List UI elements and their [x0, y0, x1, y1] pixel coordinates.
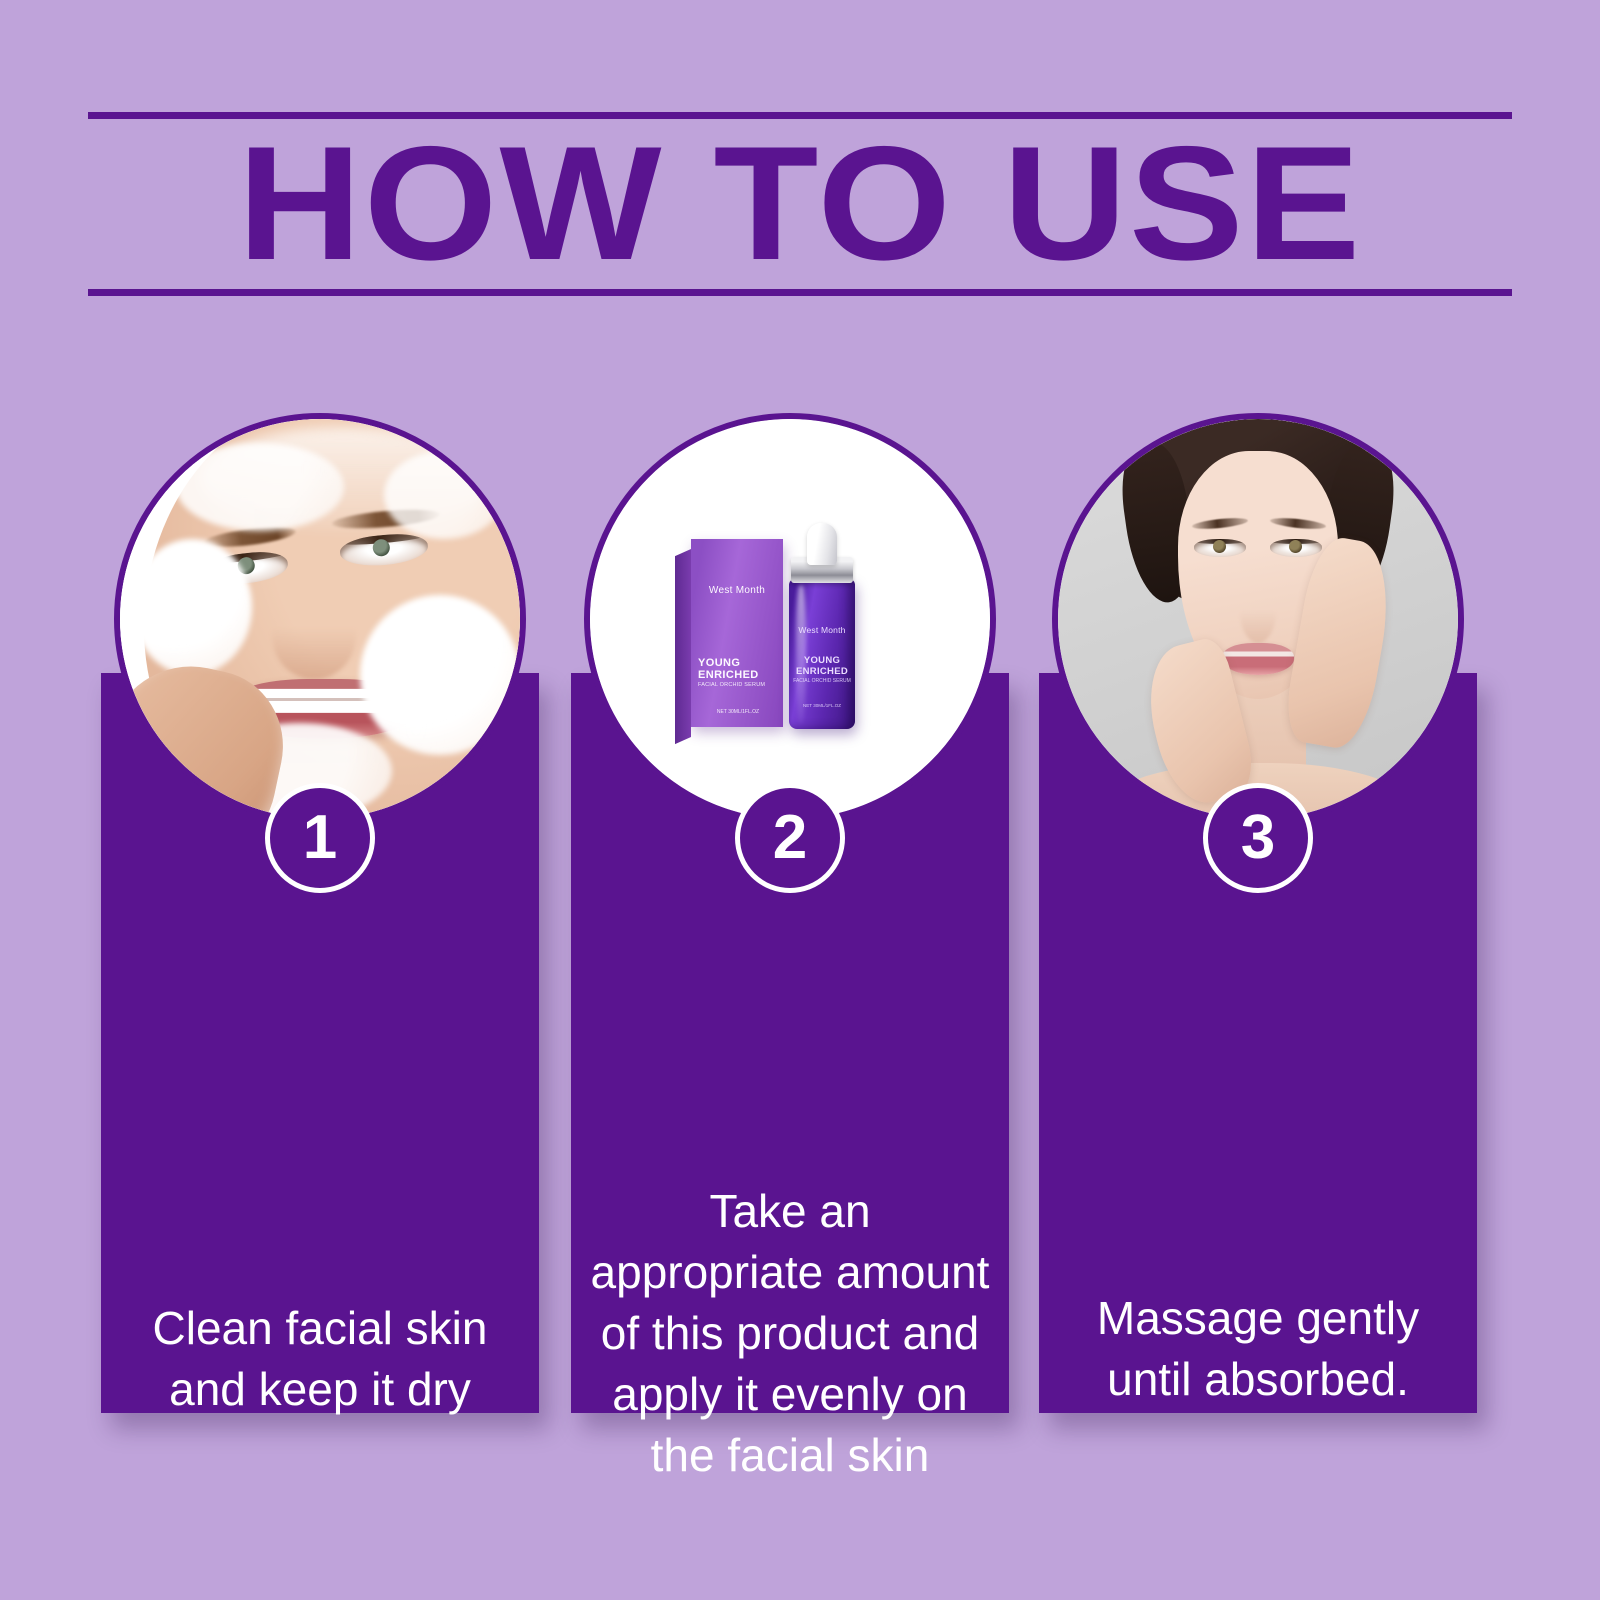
step-3-number-badge: 3 [1203, 783, 1313, 893]
beauty-portrait-illustration [1058, 419, 1458, 819]
bottle-subtitle: FACIAL ORCHID SERUM [789, 678, 855, 684]
step-2-photo-inner: West Month YOUNG ENRICHED FACIAL ORCHID … [590, 419, 990, 819]
face-washing-illustration [120, 419, 520, 819]
bottle-brand-label: West Month [789, 625, 855, 635]
box-name-line1: YOUNG [698, 657, 778, 669]
box-name-line2: ENRICHED [698, 669, 778, 681]
step-3-photo [1052, 413, 1464, 825]
bottle-name-line2: ENRICHED [789, 666, 855, 677]
bottle-name-line1: YOUNG [789, 655, 855, 666]
how-to-use-poster: HOW TO USE [0, 0, 1600, 1600]
box-brand-label: West Month [691, 585, 783, 596]
step-card-2: West Month YOUNG ENRICHED FACIAL ORCHID … [571, 413, 1009, 1413]
step-2-number-badge: 2 [735, 783, 845, 893]
step-1-number-badge: 1 [265, 783, 375, 893]
serum-product-illustration: West Month YOUNG ENRICHED FACIAL ORCHID … [590, 419, 990, 819]
step-3-caption: Massage gently until absorbed. [1057, 1288, 1459, 1410]
box-subtitle: FACIAL ORCHID SERUM [698, 681, 778, 689]
step-card-1: 1 Clean facial skin and keep it dry [101, 413, 539, 1413]
product-bottle: West Month YOUNG ENRICHED FACIAL ORCHID … [789, 579, 855, 729]
step-1-photo [114, 413, 526, 825]
step-3-photo-inner [1058, 419, 1458, 819]
step-card-3: 3 Massage gently until absorbed. [1039, 413, 1477, 1413]
box-net-content: NET 30ML/1FL.OZ [698, 709, 778, 715]
steps-row: 1 Clean facial skin and keep it dry West… [0, 0, 1600, 1600]
product-box: West Month YOUNG ENRICHED FACIAL ORCHID … [691, 539, 783, 727]
step-1-caption: Clean facial skin and keep it dry [119, 1298, 521, 1420]
step-2-caption: Take an appropriate amount of this produ… [589, 1181, 991, 1486]
dropper-cap [807, 523, 837, 565]
bottle-net-content: NET 30ML/1FL.OZ [789, 703, 855, 708]
step-2-photo: West Month YOUNG ENRICHED FACIAL ORCHID … [584, 413, 996, 825]
step-1-photo-inner [120, 419, 520, 819]
